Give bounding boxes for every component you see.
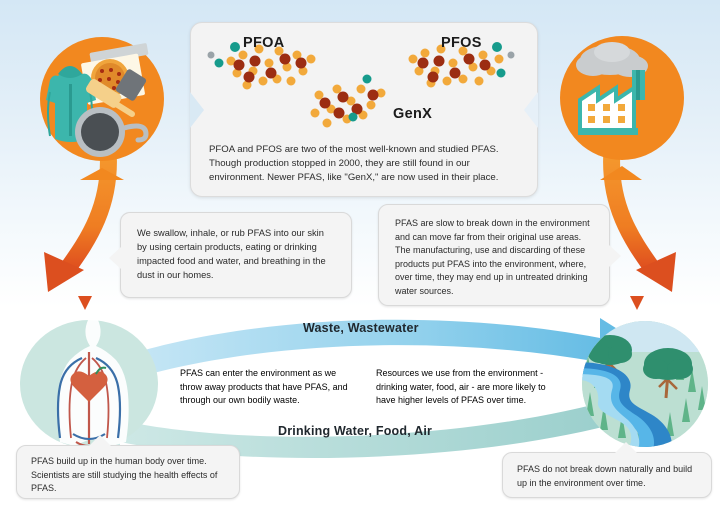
infographic-canvas: PFOA PFOS GenX PFOA and PFOS are two of … xyxy=(0,0,720,512)
genx-label: GenX xyxy=(393,105,432,124)
resources-path-text-block: Resources we use from the environment - … xyxy=(376,358,566,417)
pfoa-label: PFOA xyxy=(243,34,284,53)
waste-path-text-block: PFAS can enter the environment as we thr… xyxy=(180,358,360,417)
env-buildup-callout: PFAS do not break down naturally and bui… xyxy=(502,452,712,498)
factory-building-icon xyxy=(578,88,638,135)
waste-path-text: PFAS can enter the environment as we thr… xyxy=(180,367,360,408)
env-buildup-text: PFAS do not break down naturally and bui… xyxy=(517,463,697,490)
body-buildup-callout-tail xyxy=(89,435,111,446)
persistence-callout-text: PFAS are slow to break down in the envir… xyxy=(395,217,593,298)
resources-path-text: Resources we use from the environment - … xyxy=(376,367,566,408)
persistence-callout-tail xyxy=(609,245,621,267)
environment-scene xyxy=(578,318,712,450)
genx-molecule-icon xyxy=(311,75,386,128)
body-buildup-callout: PFAS build up in the human body over tim… xyxy=(16,445,240,499)
exposure-callout-tail xyxy=(109,247,121,269)
pfas-types-panel: PFOA PFOS GenX PFOA and PFOS are two of … xyxy=(190,22,538,197)
waste-wastewater-label: Waste, Wastewater xyxy=(303,321,419,335)
persistence-callout: PFAS are slow to break down in the envir… xyxy=(378,204,610,306)
human-body-circle xyxy=(18,318,160,450)
consumer-products-circle xyxy=(28,28,176,180)
body-buildup-text: PFAS build up in the human body over tim… xyxy=(31,455,225,496)
exposure-callout: We swallow, inhale, or rub PFAS into our… xyxy=(120,212,352,298)
pfas-types-description: PFOA and PFOS are two of the most well-k… xyxy=(209,143,525,186)
factory-circle xyxy=(548,30,696,180)
environment-circle xyxy=(578,318,712,450)
drinking-water-food-air-label: Drinking Water, Food, Air xyxy=(278,424,432,438)
pfos-label: PFOS xyxy=(441,34,482,53)
env-buildup-callout-tail xyxy=(615,442,637,453)
exposure-callout-text: We swallow, inhale, or rub PFAS into our… xyxy=(137,227,335,283)
